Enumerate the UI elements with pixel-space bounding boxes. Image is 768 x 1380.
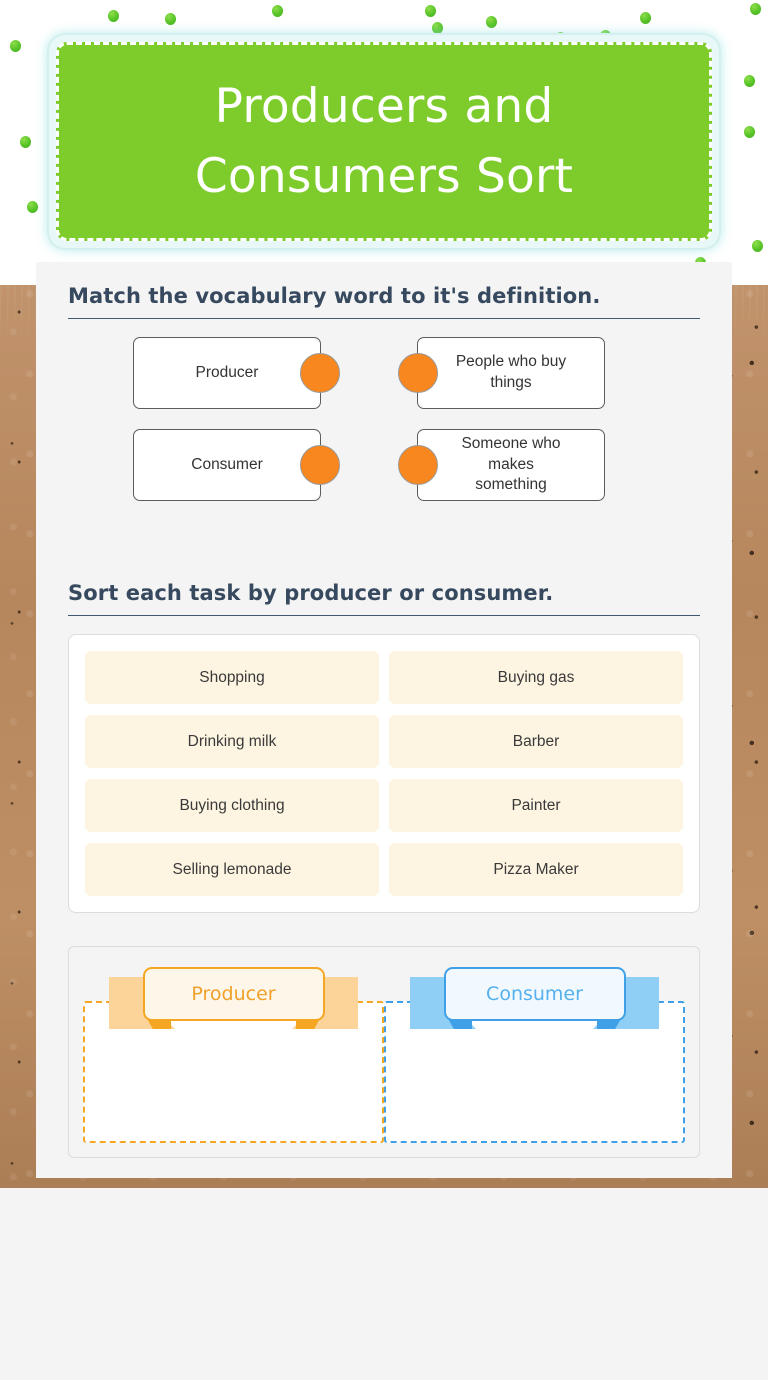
- sort-tile[interactable]: Pizza Maker: [389, 843, 683, 896]
- dropzone-drop-area[interactable]: [384, 1001, 685, 1143]
- confetti-dot-icon: [27, 201, 38, 213]
- confetti-dot-icon: [20, 136, 31, 148]
- connector-dot-icon[interactable]: [300, 353, 340, 393]
- dropzone-container: Producer Consumer: [68, 946, 700, 1158]
- connector-dot-icon[interactable]: [398, 353, 438, 393]
- dropzone-producer[interactable]: Producer: [83, 963, 384, 1143]
- match-definition-label: People who buy things: [452, 352, 570, 394]
- sort-tile[interactable]: Painter: [389, 779, 683, 832]
- match-terms-column: Producer Consumer: [68, 337, 363, 521]
- worksheet-page: Producers and Consumers Sort Match the v…: [0, 0, 768, 1380]
- match-definition-card[interactable]: Someone who makes something: [417, 429, 605, 501]
- connector-dot-icon[interactable]: [300, 445, 340, 485]
- page-bottom-filler: [0, 1188, 768, 1380]
- dropzone-consumer[interactable]: Consumer: [384, 963, 685, 1143]
- confetti-dot-icon: [108, 10, 119, 22]
- confetti-dot-icon: [752, 240, 763, 252]
- match-term-label: Producer: [196, 363, 259, 384]
- match-section-heading: Match the vocabulary word to it's defini…: [68, 284, 700, 318]
- sort-tile[interactable]: Drinking milk: [85, 715, 379, 768]
- confetti-dot-icon: [272, 5, 283, 17]
- dropzone-drop-area[interactable]: [83, 1001, 384, 1143]
- confetti-dot-icon: [10, 40, 21, 52]
- match-term-label: Consumer: [191, 455, 263, 476]
- connector-dot-icon[interactable]: [398, 445, 438, 485]
- header-area: Producers and Consumers Sort: [0, 0, 768, 285]
- sort-tile[interactable]: Selling lemonade: [85, 843, 379, 896]
- title-banner-inner: Producers and Consumers Sort: [56, 42, 712, 241]
- match-definitions-column: People who buy things Someone who makes …: [405, 337, 700, 521]
- worksheet-content: Match the vocabulary word to it's defini…: [36, 262, 732, 1178]
- confetti-dot-icon: [425, 5, 436, 17]
- match-definition-label: Someone who makes something: [452, 434, 570, 497]
- match-grid: Producer Consumer People who buy things …: [68, 337, 700, 521]
- title-banner: Producers and Consumers Sort: [49, 35, 719, 248]
- sort-tile[interactable]: Buying clothing: [85, 779, 379, 832]
- sort-tile-bank: Shopping Buying gas Drinking milk Barber…: [68, 634, 700, 913]
- confetti-dot-icon: [640, 12, 651, 24]
- match-section-divider: [68, 318, 700, 319]
- sort-tile[interactable]: Shopping: [85, 651, 379, 704]
- match-definition-card[interactable]: People who buy things: [417, 337, 605, 409]
- confetti-dot-icon: [744, 75, 755, 87]
- confetti-dot-icon: [432, 22, 443, 34]
- confetti-dot-icon: [486, 16, 497, 28]
- sort-tile[interactable]: Buying gas: [389, 651, 683, 704]
- confetti-dot-icon: [750, 3, 761, 15]
- match-term-card[interactable]: Consumer: [133, 429, 321, 501]
- page-title: Producers and Consumers Sort: [59, 72, 709, 211]
- confetti-dot-icon: [744, 126, 755, 138]
- sort-tile[interactable]: Barber: [389, 715, 683, 768]
- sort-section-heading: Sort each task by producer or consumer.: [68, 581, 700, 615]
- confetti-dot-icon: [165, 13, 176, 25]
- sort-section-divider: [68, 615, 700, 616]
- match-term-card[interactable]: Producer: [133, 337, 321, 409]
- section-spacer: [68, 521, 700, 581]
